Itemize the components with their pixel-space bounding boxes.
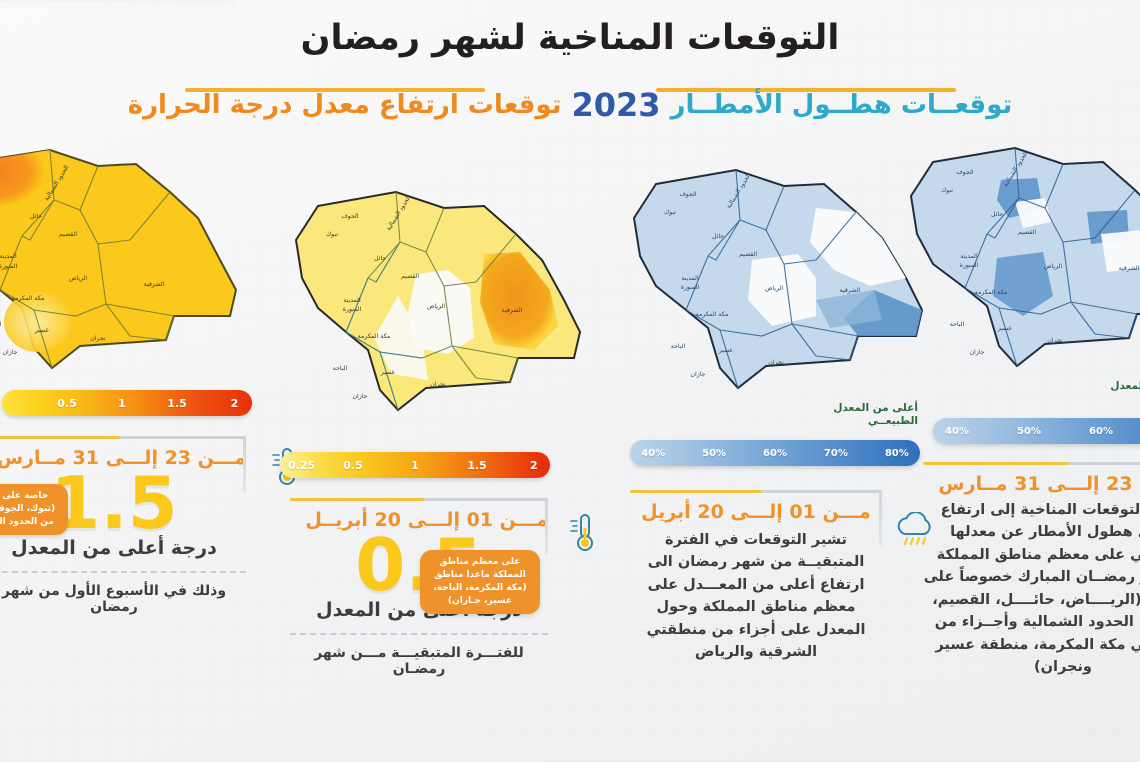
footnote-temp-week1: وذلك في الأسبوع الأول من شهر رمضان [0,583,246,615]
date-range-rain-week1: مـــن 23 إلـــى 31 مــارس [923,473,1140,495]
saudi-map-temp-week1-svg: الجوفالحدود الشمالية حائلالقصيم المدينةا… [0,140,260,390]
panel-rule [923,462,1140,465]
svg-text:المدينة: المدينة [0,253,17,260]
svg-text:الشرقية: الشرقية [144,281,165,288]
panel-rule [630,490,882,493]
svg-text:جازان: جازان [691,371,706,378]
svg-text:عسير: عسير [718,347,734,354]
panel-rain-rest: مـــن 01 إلـــى 20 أبريل تشير التوقعات ف… [630,490,882,664]
svg-text:القصيم: القصيم [739,251,757,258]
svg-text:نجران: نجران [430,381,446,388]
legend-tick: 1.5 [167,390,187,416]
svg-text:عسير: عسير [34,327,50,334]
legend-tick: 2 [231,390,239,416]
svg-text:الجوف: الجوف [956,169,973,176]
column-rain-week1: تبوكالجوف الحدود الشمالية حائلالقصيم الم… [905,140,1140,394]
footnote-temp-rest: للفتـــرة المتبقيـــة مـــن شهر رمضـان [290,645,548,677]
legend-temp-week1: 0.5 1 1.5 2 [2,390,252,416]
divider [290,633,548,635]
svg-text:المدينة: المدينة [960,253,978,260]
svg-text:المنورة: المنورة [0,263,18,270]
legend-tick: 1 [411,452,419,478]
legend-tick: 40% [641,440,665,466]
legend-temp-rest: 0.25 0.5 1 1.5 2 [280,452,550,478]
svg-text:القصيم: القصيم [59,231,77,238]
svg-text:الشرقية: الشرقية [840,287,861,294]
divider [0,571,246,573]
svg-text:حائل: حائل [30,213,42,220]
body-text-rain-week1: تشير التوقعات المناخية إلى ارتفاع معدل ه… [923,499,1140,679]
svg-text:الجوف: الجوف [341,213,358,220]
saudi-map-rain-rest-svg: تبوكالجوف الحدود الشمالية حائلالقصيم الم… [620,150,940,400]
svg-text:نجران: نجران [90,335,106,342]
panel-rule [0,436,246,439]
svg-text:مكة المكرمة: مكة المكرمة [358,333,391,340]
value-caption-temp-week1: درجة أعلى من المعدل [0,537,246,559]
column-temp-week1: الجوفالحدود الشمالية حائلالقصيم المدينةا… [0,140,260,394]
panel-temp-rest: مـــن 01 إلـــى 20 أبريــل 0.5 على معظم … [290,498,548,677]
svg-text:عسير: عسير [380,369,396,376]
legend-tick: 0.25 [288,452,315,478]
thermometer-icon [566,512,596,554]
svg-text:تبوك: تبوك [941,187,953,194]
svg-text:الرياض: الرياض [69,275,87,282]
svg-text:الباحة: الباحة [671,343,686,350]
svg-text:تبوك: تبوك [326,231,338,238]
svg-text:المنورة: المنورة [343,306,362,313]
svg-text:جازان: جازان [970,349,985,356]
svg-text:الرياض: الرياض [765,285,783,292]
legend-tick: 60% [763,440,787,466]
svg-text:الشرقية: الشرقية [1119,265,1140,272]
svg-text:حائل: حائل [374,255,386,262]
svg-text:حائل: حائل [712,233,724,240]
panel-rule-drop [879,490,882,546]
map-rain-week1: تبوكالجوف الحدود الشمالية حائلالقصيم الم… [905,140,1140,394]
subtitle-temperature: توقعات ارتفاع معدل درجة الحرارة [128,90,562,120]
legend-tick: 80% [885,440,909,466]
subtitle-year: 2023 [571,86,660,124]
svg-text:الرياض: الرياض [427,303,445,310]
svg-text:حائل: حائل [991,211,1003,218]
svg-text:الباحة: الباحة [333,365,348,372]
pill-note-temp-rest: على معظم مناطق المملكة ماعدا مناطق (مكة … [420,550,540,614]
svg-text:الشرقية: الشرقية [502,307,523,314]
svg-text:جازان: جازان [3,349,18,356]
body-text-rain-rest: تشير التوقعات في الفترة المتبقيــة من شه… [630,529,882,664]
subtitle-rain: توقعــات هطــول الأمطــار [671,90,1013,120]
panel-temp-week1: مـــن 23 إلـــى 31 مــارس 1.5 خاصة على م… [0,436,246,615]
legend-tick: 1 [118,390,126,416]
legend-tick: 0.5 [57,390,77,416]
svg-text:الرياض: الرياض [1044,263,1062,270]
svg-text:القصيم: القصيم [1018,229,1036,236]
map-rain-rest: تبوكالجوف الحدود الشمالية حائلالقصيم الم… [610,140,940,404]
map-temp-week1: الجوفالحدود الشمالية حائلالقصيم المدينةا… [0,140,260,394]
svg-text:المدينة: المدينة [343,297,361,304]
pill-note-temp-week1: خاصة على مناطق (تبوك، الجوف وأجزاء من ال… [0,484,68,535]
legend-tick: 50% [702,440,726,466]
panel-rule-drop [545,498,548,554]
svg-text:المدينة: المدينة [681,275,699,282]
date-range-rain-rest: مـــن 01 إلـــى 20 أبريل [630,501,882,523]
svg-text:المنورة: المنورة [681,284,700,291]
column-rain-rest: تبوكالجوف الحدود الشمالية حائلالقصيم الم… [610,140,940,404]
svg-text:مكة المكرمة: مكة المكرمة [696,311,729,318]
legend-tick: 1.5 [467,452,487,478]
saudi-map-rain-week1-svg: تبوكالجوف الحدود الشمالية حائلالقصيم الم… [905,140,1140,390]
svg-text:نجران: نجران [1047,337,1063,344]
svg-text:الباحة: الباحة [0,321,2,328]
legend-note-rain-week1: أعلى من المعدل الطبيعــي [1075,380,1140,406]
svg-text:المنورة: المنورة [960,262,979,269]
saudi-map-temp-rest-svg: تبوكالجوف الحدود الشمالية حائلالقصيم الم… [288,178,588,428]
legend-tick: 70% [824,440,848,466]
svg-text:الجوف: الجوف [679,191,696,198]
svg-text:القصيم: القصيم [401,273,419,280]
svg-text:تبوك: تبوك [664,209,676,216]
page-title: التوقعات المناخية لشهر رمضان [0,0,1140,58]
svg-text:مكة المكرمة: مكة المكرمة [975,289,1008,296]
legend-tick: 0.5 [343,452,363,478]
svg-text:الباحة: الباحة [950,321,965,328]
legend-note-rain-rest: أعلى من المعدل الطبيعــي [808,402,918,428]
panel-rain-week1: مـــن 23 إلـــى 31 مــارس تشير التوقعات … [923,428,1140,679]
subtitle-row: توقعــات هطــول الأمطــار 2023 توقعات ار… [0,86,1140,124]
svg-text:عسير: عسير [997,325,1013,332]
svg-text:مكة المكرمة: مكة المكرمة [12,295,45,302]
panel-rule-drop [243,436,246,492]
map-temp-rest: تبوكالجوف الحدود الشمالية حائلالقصيم الم… [268,140,588,432]
svg-text:جازان: جازان [353,393,368,400]
page-header: التوقعات المناخية لشهر رمضان توقعــات هط… [0,0,1140,140]
svg-text:نجران: نجران [768,359,784,366]
legend-rain-rest: 40% 50% 60% 70% 80% [630,440,920,466]
column-temp-rest: تبوكالجوف الحدود الشمالية حائلالقصيم الم… [268,140,588,432]
panel-rule [290,498,548,501]
legend-tick: 2 [530,452,538,478]
